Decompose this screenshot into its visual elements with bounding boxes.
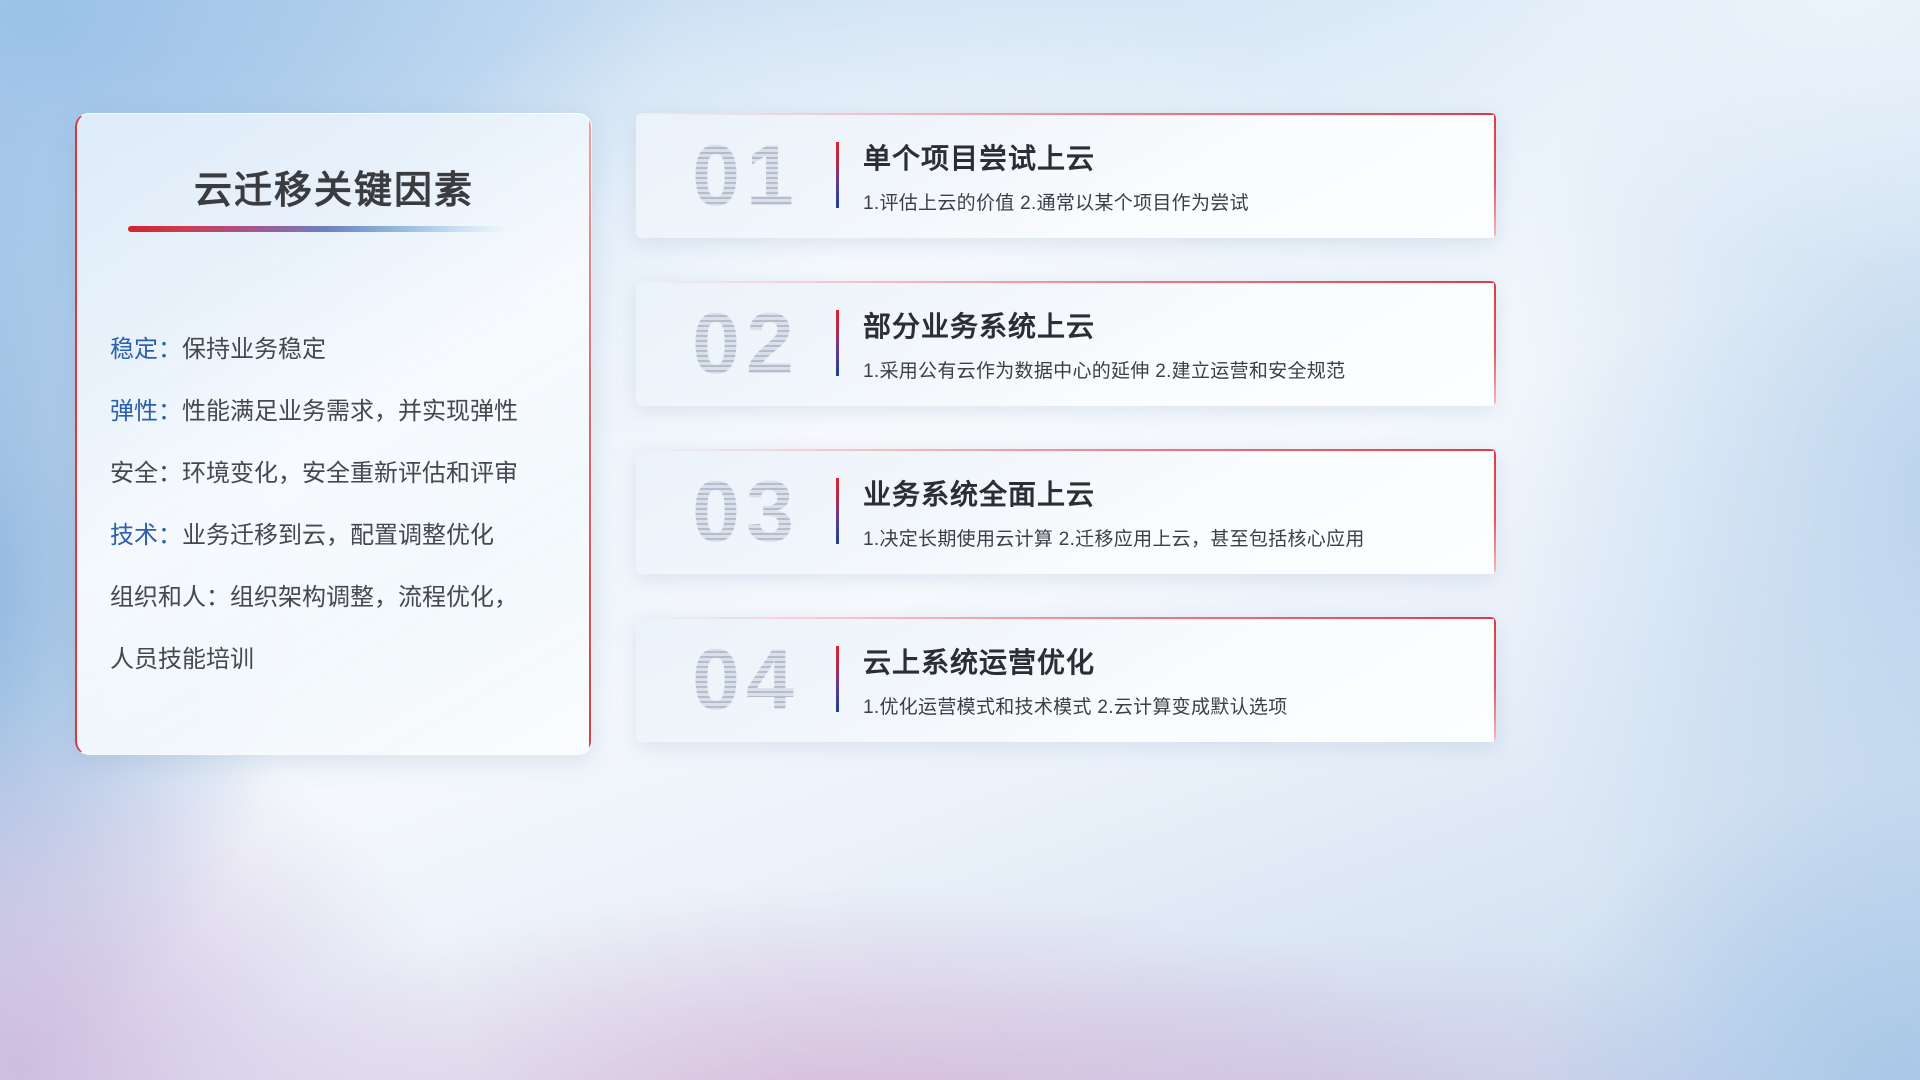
list-item: 组织和人：组织架构调整，流程优化，: [110, 567, 571, 629]
list-item: 弹性：性能满足业务需求，并实现弹性: [110, 381, 571, 443]
stage-card-subtitle: 1.采用公有云作为数据中心的延伸 2.建立运营和安全规范: [863, 356, 1345, 383]
list-item-text: 组织架构调整，流程优化，: [230, 584, 518, 611]
list-item: 技术：业务迁移到云，配置调整优化: [110, 505, 571, 567]
stage-card[interactable]: 04 云上系统运营优化 1.优化运营模式和技术模式 2.云计算变成默认选项: [636, 617, 1496, 742]
title-underline-rule: [128, 226, 508, 232]
list-item-label: 稳定：: [110, 336, 182, 363]
list-item-text: 业务迁移到云，配置调整优化: [182, 522, 494, 549]
stage-card-title: 部分业务系统上云: [863, 305, 1095, 345]
list-item-text: 环境变化，安全重新评估和评审: [182, 460, 518, 487]
accent-bar: [836, 478, 839, 544]
stage-card-title: 云上系统运营优化: [863, 641, 1095, 681]
stage-card-title: 单个项目尝试上云: [863, 137, 1095, 177]
list-item: 人员技能培训: [110, 629, 571, 691]
list-item-text: 性能满足业务需求，并实现弹性: [182, 398, 518, 425]
stage-card-subtitle: 1.评估上云的价值 2.通常以某个项目作为尝试: [863, 188, 1249, 215]
list-item-text: 保持业务稳定: [182, 336, 326, 363]
list-item-text: 人员技能培训: [110, 646, 254, 673]
stage-card[interactable]: 03 业务系统全面上云 1.决定长期使用云计算 2.迁移应用上云，甚至包括核心应…: [636, 449, 1496, 574]
list-item-label: 安全：: [110, 460, 182, 487]
page-title: 云迁移关键因素: [77, 159, 591, 214]
list-item-label: 技术：: [110, 522, 182, 549]
accent-bar: [836, 142, 839, 208]
slide-stage: 云迁移关键因素 稳定：保持业务稳定 弹性：性能满足业务需求，并实现弹性 安全：环…: [0, 0, 1920, 1080]
stage-card-subtitle: 1.决定长期使用云计算 2.迁移应用上云，甚至包括核心应用: [863, 524, 1365, 551]
stage-card[interactable]: 01 单个项目尝试上云 1.评估上云的价值 2.通常以某个项目作为尝试: [636, 113, 1496, 238]
list-item: 稳定：保持业务稳定: [110, 319, 571, 381]
accent-bar: [836, 646, 839, 712]
list-item-label: 组织和人：: [110, 584, 230, 611]
list-item-label: 弹性：: [110, 398, 182, 425]
stage-number: 04: [656, 631, 836, 729]
list-item: 安全：环境变化，安全重新评估和评审: [110, 443, 571, 505]
stage-number: 01: [656, 127, 836, 225]
stage-number: 03: [656, 463, 836, 561]
stage-cards-list: 01 单个项目尝试上云 1.评估上云的价值 2.通常以某个项目作为尝试 02 部…: [636, 113, 1496, 785]
stage-card[interactable]: 02 部分业务系统上云 1.采用公有云作为数据中心的延伸 2.建立运营和安全规范: [636, 281, 1496, 406]
stage-card-subtitle: 1.优化运营模式和技术模式 2.云计算变成默认选项: [863, 692, 1287, 719]
key-factors-panel: 云迁移关键因素 稳定：保持业务稳定 弹性：性能满足业务需求，并实现弹性 安全：环…: [75, 113, 592, 755]
stage-card-title: 业务系统全面上云: [863, 473, 1095, 513]
stage-number: 02: [656, 295, 836, 393]
accent-bar: [836, 310, 839, 376]
key-factors-list: 稳定：保持业务稳定 弹性：性能满足业务需求，并实现弹性 安全：环境变化，安全重新…: [110, 319, 571, 691]
